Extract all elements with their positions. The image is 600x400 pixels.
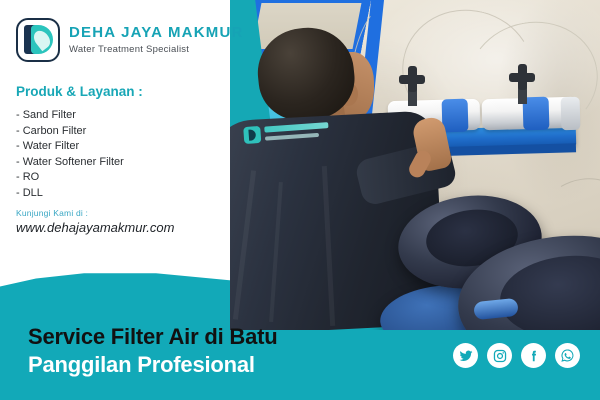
banner-subheadline: Panggilan Profesional [28, 352, 278, 378]
products-heading: Produk & Layanan : [16, 84, 143, 99]
list-item: - Sand Filter [16, 108, 124, 124]
banner-headline: Service Filter Air di Batu [28, 324, 278, 350]
list-item: - DLL [16, 186, 124, 202]
social-links [453, 343, 580, 368]
twitter-icon [459, 349, 473, 363]
whatsapp-icon [560, 348, 575, 363]
list-item: - Water Softener Filter [16, 155, 124, 171]
service-photo [230, 0, 600, 330]
uniform-print-name [264, 122, 328, 132]
uniform-print-tagline [265, 133, 319, 141]
valve-handle-left-icon [399, 66, 425, 92]
facebook-icon [527, 349, 541, 363]
list-item: - Carbon Filter [16, 124, 124, 140]
visit-label: Kunjungi Kami di : [16, 208, 88, 218]
list-item: - RO [16, 170, 124, 186]
website-url[interactable]: www.dehajayamakmur.com [16, 220, 174, 235]
company-logo-icon [16, 18, 60, 62]
uniform-logo-icon [243, 126, 261, 144]
social-instagram-button[interactable] [487, 343, 512, 368]
social-whatsapp-button[interactable] [555, 343, 580, 368]
social-twitter-button[interactable] [453, 343, 478, 368]
uniform-back-print [243, 119, 333, 155]
brand-lockup: DEHA JAYA MAKMUR Water Treatment Special… [16, 18, 244, 62]
banner-text-block: Service Filter Air di Batu Panggilan Pro… [28, 324, 278, 378]
products-list: - Sand Filter - Carbon Filter - Water Fi… [16, 108, 124, 202]
filter-cap-left [442, 99, 469, 133]
list-item: - Water Filter [16, 139, 124, 155]
filter-end-cap [561, 97, 581, 130]
company-tagline: Water Treatment Specialist [69, 44, 244, 55]
valve-handle-right-icon [509, 64, 535, 90]
company-name: DEHA JAYA MAKMUR [69, 25, 244, 42]
instagram-icon [493, 349, 507, 363]
brand-text: DEHA JAYA MAKMUR Water Treatment Special… [69, 25, 244, 55]
social-facebook-button[interactable] [521, 343, 546, 368]
poster-root: DEHA JAYA MAKMUR Water Treatment Special… [0, 0, 600, 400]
